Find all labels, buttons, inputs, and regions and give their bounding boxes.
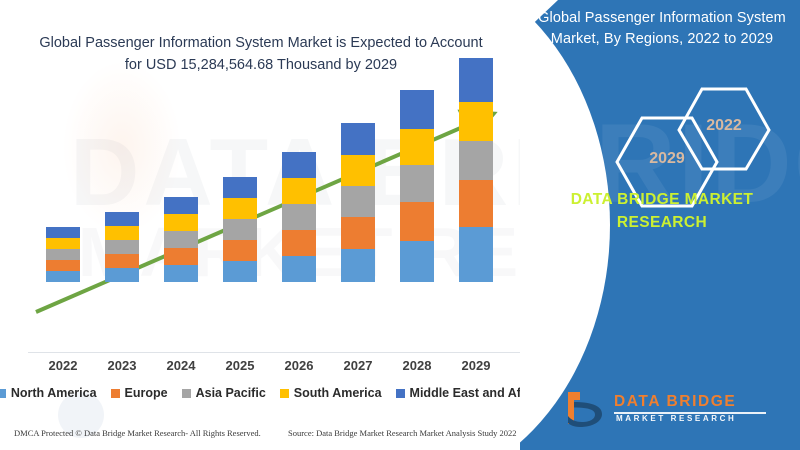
- legend-item-south-america[interactable]: South America: [280, 386, 382, 400]
- x-axis-label-2027: 2027: [328, 358, 388, 373]
- legend-swatch-icon: [182, 389, 191, 398]
- bar-segment: [459, 141, 493, 180]
- bar-segment: [400, 90, 434, 129]
- bar-segment: [282, 178, 316, 204]
- bar-2025: [223, 177, 257, 282]
- legend-swatch-icon: [280, 389, 289, 398]
- legend-item-north-america[interactable]: North America: [0, 386, 97, 400]
- logo-text-main: DATA BRIDGE: [614, 393, 736, 411]
- hexagon-2022-label: 2022: [674, 117, 774, 135]
- infographic-root: DATA BRIDGE MARKET RESEARCH Global Passe…: [0, 0, 800, 450]
- bar-segment: [105, 240, 139, 254]
- bar-segment: [105, 254, 139, 268]
- bar-segment: [223, 177, 257, 198]
- legend-label: Europe: [125, 386, 168, 400]
- bar-segment: [282, 204, 316, 230]
- legend-item-asia-pacific[interactable]: Asia Pacific: [182, 386, 266, 400]
- side-panel: BRIDGE Global Passenger Information Syst…: [520, 0, 800, 450]
- legend-swatch-icon: [0, 389, 6, 398]
- bar-2026: [282, 152, 316, 282]
- x-axis-label-2028: 2028: [387, 358, 447, 373]
- bar-segment: [400, 165, 434, 202]
- bar-2023: [105, 212, 139, 282]
- bar-segment: [400, 129, 434, 165]
- bar-segment: [46, 249, 80, 260]
- legend-swatch-icon: [111, 389, 120, 398]
- bar-segment: [46, 227, 80, 238]
- legend-label: South America: [294, 386, 382, 400]
- bar-2029: [459, 58, 493, 282]
- x-axis-label-2024: 2024: [151, 358, 211, 373]
- bar-segment: [46, 260, 80, 271]
- bar-segment: [164, 265, 198, 282]
- bar-segment: [341, 155, 375, 186]
- bar-2024: [164, 197, 198, 282]
- chart-baseline: [28, 352, 528, 353]
- bar-segment: [223, 198, 257, 219]
- bar-segment: [459, 227, 493, 282]
- bar-segment: [105, 226, 139, 240]
- bar-segment: [282, 256, 316, 282]
- logo-text-sub: MARKET RESEARCH: [616, 414, 736, 423]
- x-axis-label-2022: 2022: [33, 358, 93, 373]
- bar-segment: [400, 202, 434, 241]
- legend-label: Asia Pacific: [196, 386, 266, 400]
- bar-2027: [341, 123, 375, 282]
- bar-segment: [459, 180, 493, 227]
- bar-segment: [46, 238, 80, 249]
- data-bridge-logo-mark-icon: [564, 390, 608, 435]
- x-axis-label-2026: 2026: [269, 358, 329, 373]
- bar-2028: [400, 90, 434, 282]
- bar-segment: [164, 248, 198, 265]
- x-axis-label-2025: 2025: [210, 358, 270, 373]
- data-bridge-logo: DATA BRIDGE MARKET RESEARCH: [564, 388, 784, 434]
- bar-segment: [341, 123, 375, 155]
- panel-brand-line1: DATA BRIDGE MARKET: [530, 188, 794, 211]
- bar-segment: [459, 102, 493, 141]
- bar-segment: [223, 219, 257, 240]
- bar-segment: [105, 268, 139, 282]
- bar-chart: 20222023202420252026202720282029: [0, 0, 540, 380]
- bar-2022: [46, 227, 80, 282]
- bar-segment: [459, 58, 493, 102]
- bar-segment: [282, 230, 316, 256]
- bar-segment: [46, 271, 80, 282]
- panel-brand: DATA BRIDGE MARKET RESEARCH: [530, 188, 794, 235]
- bar-segment: [400, 241, 434, 282]
- bar-segment: [223, 240, 257, 261]
- bar-segment: [282, 152, 316, 178]
- legend-swatch-icon: [396, 389, 405, 398]
- bar-segment: [341, 217, 375, 249]
- bar-segment: [164, 214, 198, 231]
- hexagon-2022: 2022: [674, 86, 774, 172]
- bar-segment: [105, 212, 139, 226]
- x-axis-label-2023: 2023: [92, 358, 152, 373]
- bar-segment: [164, 197, 198, 214]
- bar-segment: [341, 249, 375, 282]
- footer-source: Source: Data Bridge Market Research Mark…: [288, 428, 517, 438]
- x-axis-label-2029: 2029: [446, 358, 506, 373]
- bar-segment: [341, 186, 375, 217]
- chart-legend: North AmericaEuropeAsia PacificSouth Ame…: [0, 386, 540, 400]
- bar-segment: [164, 231, 198, 248]
- footer-copyright: DMCA Protected © Data Bridge Market Rese…: [14, 428, 261, 438]
- legend-item-europe[interactable]: Europe: [111, 386, 168, 400]
- bar-segment: [223, 261, 257, 282]
- panel-brand-line2: RESEARCH: [530, 211, 794, 234]
- panel-title: Global Passenger Information System Mark…: [534, 8, 790, 50]
- legend-label: North America: [11, 386, 97, 400]
